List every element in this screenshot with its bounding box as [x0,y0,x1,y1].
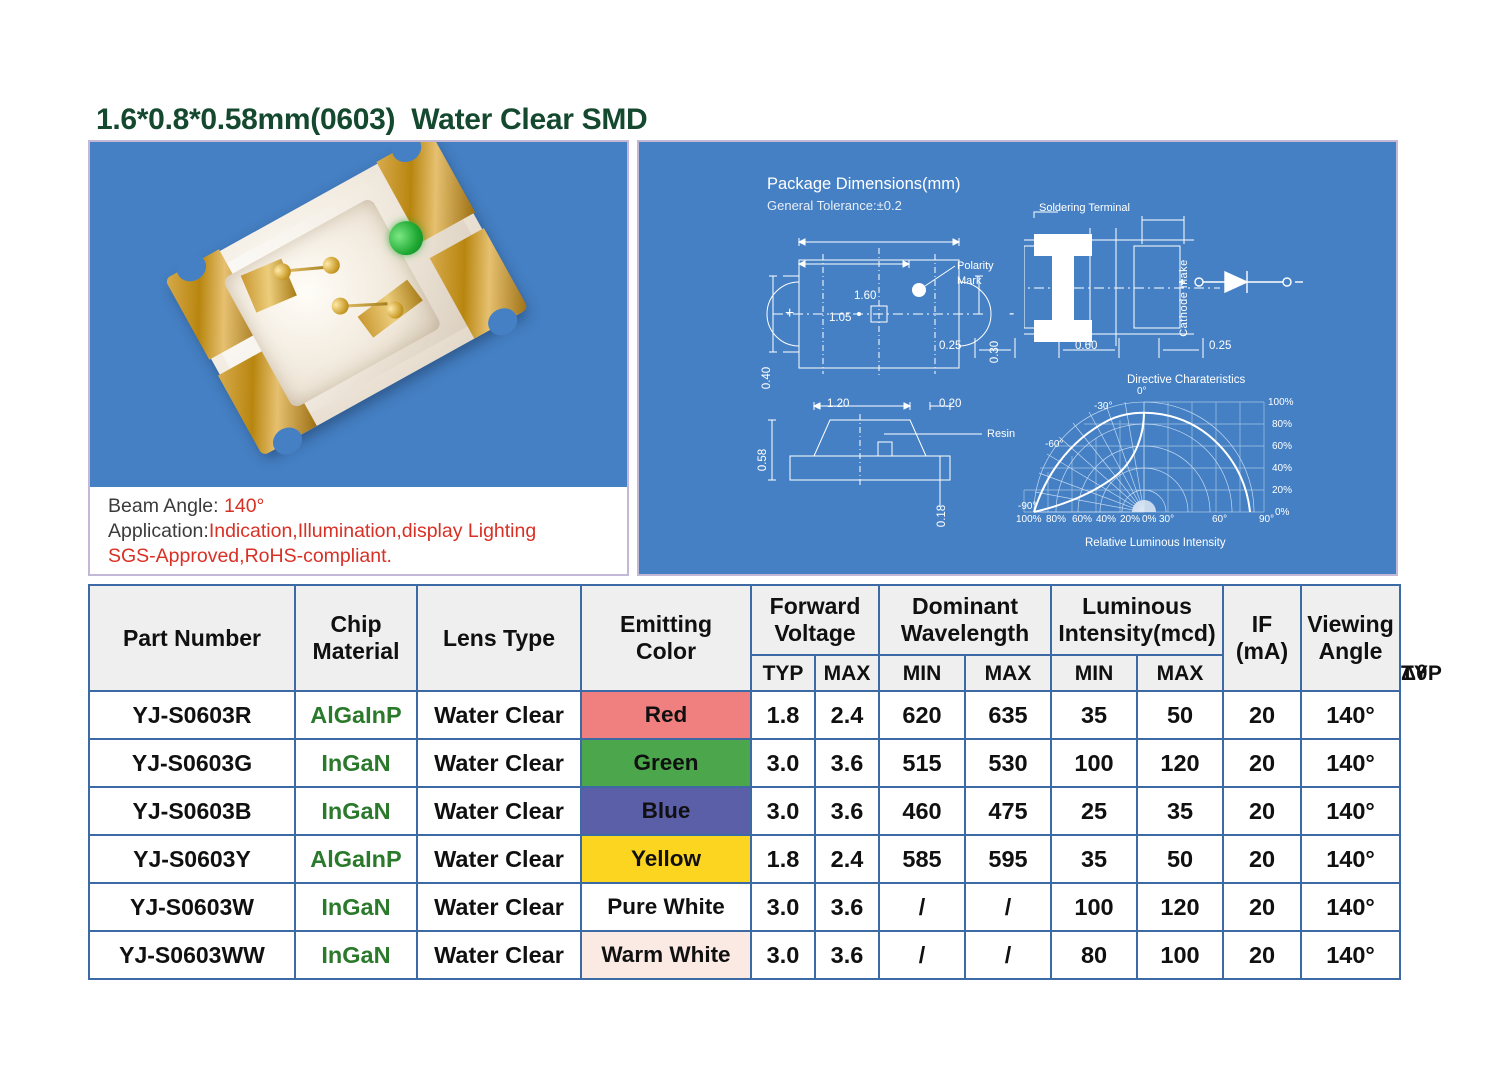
cell-iv-min: 80 [1051,931,1137,979]
cell-iv-max: 120 [1137,883,1223,931]
polar-percent-bottom-20: 20% [1120,514,1140,525]
cell-if-typ: 20 [1223,739,1301,787]
subheader-iv-min: MIN [1051,655,1137,691]
polarity-mark-label-line2: Mark [957,275,981,287]
cell-part-number: YJ-S0603B [89,787,295,835]
cell-emitting-color: Blue [581,787,751,835]
cell-iv-min: 100 [1051,739,1137,787]
side-view-drawing [754,394,1019,534]
table-row: YJ-S0603BInGaNWater ClearBlue3.03.646047… [89,787,1400,835]
cell-wl-max: / [965,931,1051,979]
polar-percent-bottom-100: 100% [1016,514,1042,525]
product-photo-panel: Beam Angle: 140° Application:Indication,… [88,140,629,576]
cell-vf-max: 2.4 [815,691,879,739]
header-forward-voltage: Forward Voltage [751,585,879,655]
header-luminous-intensity: Luminous Intensity(mcd) [1051,585,1223,655]
header-dominant-wavelength-line1: Dominant [880,593,1050,620]
cell-chip-material: AlGaInP [295,835,417,883]
polar-percent-right-60: 60% [1272,441,1292,452]
cell-viewing-angle: 140° [1301,691,1400,739]
cell-viewing-angle: 140° [1301,883,1400,931]
cell-vf-max: 3.6 [815,787,879,835]
table-row: YJ-S0603YAlGaInPWater ClearYellow1.82.45… [89,835,1400,883]
header-forward-voltage-line1: Forward [752,593,878,620]
cell-part-number: YJ-S0603G [89,739,295,787]
cell-lens-type: Water Clear [417,883,581,931]
datasheet-page: 1.6*0.8*0.58mm(0603) Water Clear SMD [0,0,1500,1080]
polar-angle-90: 90° [1259,514,1274,525]
cell-chip-material: InGaN [295,931,417,979]
header-viewing-angle-line1: Viewing [1302,611,1399,638]
polar-percent-bottom-40: 40% [1096,514,1116,525]
application-line: Application:Indication,Illumination,disp… [108,519,627,544]
header-viewing-angle: Viewing Angle [1301,585,1400,691]
dim-0-58: 0.58 [757,449,769,471]
cell-wl-max: 595 [965,835,1051,883]
table-row: YJ-S0603GInGaNWater ClearGreen3.03.65155… [89,739,1400,787]
header-if: IF (mA) [1223,585,1301,691]
resin-label: Resin [987,428,1015,440]
polar-angle-minus30: -30° [1094,401,1112,412]
cell-emitting-color: Green [581,739,751,787]
header-if-line1: IF [1224,611,1300,638]
polar-percent-right-100: 100% [1268,397,1294,408]
subheader-iv-max: MAX [1137,655,1223,691]
cell-vf-typ: 1.8 [751,835,815,883]
beam-angle-label: Beam Angle: [108,495,224,517]
soldering-terminal-label: Soldering Terminal [1039,202,1130,214]
cell-wl-min: 460 [879,787,965,835]
header-emitting-color: Emitting Color [581,585,751,691]
cell-viewing-angle: 140° [1301,835,1400,883]
cell-if-typ: 20 [1223,835,1301,883]
cell-wl-min: 515 [879,739,965,787]
dim-1-20: 1.20 [827,398,849,410]
cell-iv-min: 35 [1051,835,1137,883]
cell-vf-max: 3.6 [815,931,879,979]
cell-emitting-color: Warm White [581,931,751,979]
cell-iv-max: 120 [1137,739,1223,787]
cell-iv-max: 35 [1137,787,1223,835]
cell-if-typ: 20 [1223,931,1301,979]
cell-wl-min: 585 [879,835,965,883]
smd-led-photograph [167,142,548,487]
cell-iv-max: 50 [1137,691,1223,739]
cell-vf-max: 2.4 [815,835,879,883]
compliance-line: SGS-Approved,RoHS-compliant. [108,544,627,569]
cell-vf-typ: 3.0 [751,787,815,835]
table-row: YJ-S0603RAlGaInPWater ClearRed1.82.46206… [89,691,1400,739]
header-dominant-wavelength: Dominant Wavelength [879,585,1051,655]
cell-iv-min: 35 [1051,691,1137,739]
cell-emitting-color: Pure White [581,883,751,931]
table-body: YJ-S0603RAlGaInPWater ClearRed1.82.46206… [89,691,1400,979]
cell-lens-type: Water Clear [417,931,581,979]
cell-iv-max: 100 [1137,931,1223,979]
cell-viewing-angle: 140° [1301,931,1400,979]
cell-chip-material: InGaN [295,739,417,787]
polar-percent-right-80: 80% [1272,419,1292,430]
cell-vf-typ: 3.0 [751,931,815,979]
application-value: Indication,Illumination,display Lighting [209,520,536,542]
top-view-drawing [759,220,1024,400]
dim-0-40: 0.40 [761,367,773,389]
cell-wl-max: 475 [965,787,1051,835]
diode-schematic-symbol [1177,262,1317,302]
table-row: YJ-S0603WWInGaNWater ClearWarm White3.03… [89,931,1400,979]
dim-1-60: 1.60 [854,290,876,302]
cell-chip-material: InGaN [295,883,417,931]
polar-angle-minus60: -60° [1045,439,1063,450]
polar-chart-xlabel: Relative Luminous Intensity [1085,537,1226,549]
cell-viewing-angle: 140° [1301,787,1400,835]
dim-0-20: 0.20 [939,398,961,410]
header-viewing-angle-line2: Angle [1302,638,1399,665]
cell-wl-min: 620 [879,691,965,739]
cell-vf-max: 3.6 [815,739,879,787]
drawing-title: Package Dimensions(mm) [767,175,960,194]
cell-emitting-color: Red [581,691,751,739]
drawing-subtitle: General Tolerance:±0.2 [767,198,902,213]
cell-wl-max: / [965,883,1051,931]
header-if-line2: (mA) [1224,638,1300,665]
polar-angle-30: 30° [1159,514,1174,525]
header-forward-voltage-line2: Voltage [752,620,878,647]
specification-table: Part Number Chip Material Lens Type Emit… [88,584,1401,980]
table-header-row-1: Part Number Chip Material Lens Type Emit… [89,585,1400,655]
cell-viewing-angle: 140° [1301,739,1400,787]
header-chip-material-line1: Chip [296,611,416,638]
cell-chip-material: InGaN [295,787,417,835]
dim-0-18: 0.18 [936,505,948,527]
cell-part-number: YJ-S0603W [89,883,295,931]
cell-part-number: YJ-S0603WW [89,931,295,979]
cathode-minus-symbol: - [1009,305,1014,323]
polar-percent-right-20: 20% [1272,485,1292,496]
polar-percent-right-40: 40% [1272,463,1292,474]
subheader-vf-max: MAX [815,655,879,691]
cell-part-number: YJ-S0603Y [89,835,295,883]
cell-vf-max: 3.6 [815,883,879,931]
cell-vf-typ: 3.0 [751,739,815,787]
beam-angle-line: Beam Angle: 140° [108,494,627,519]
polar-percent-bottom-0: 0% [1142,514,1156,525]
cell-iv-max: 50 [1137,835,1223,883]
cell-if-typ: 20 [1223,691,1301,739]
header-part-number: Part Number [89,585,295,691]
cell-lens-type: Water Clear [417,691,581,739]
header-dominant-wavelength-line2: Wavelength [880,620,1050,647]
cell-wl-max: 530 [965,739,1051,787]
beam-angle-value: 140° [224,495,264,517]
header-chip-material-line2: Material [296,638,416,665]
cell-iv-min: 25 [1051,787,1137,835]
photo-caption-block: Beam Angle: 140° Application:Indication,… [90,487,627,576]
cell-iv-min: 100 [1051,883,1137,931]
header-chip-material: Chip Material [295,585,417,691]
subheader-wl-min: MIN [879,655,965,691]
header-emitting-color-line1: Emitting [582,611,750,638]
header-emitting-color-line2: Color [582,638,750,665]
polar-percent-right-0: 0% [1275,507,1289,518]
cell-lens-type: Water Clear [417,835,581,883]
directive-characteristics-chart [1014,394,1284,534]
led-photo-area [90,142,627,487]
cell-if-typ: 20 [1223,883,1301,931]
subheader-vf-typ: TYP [751,655,815,691]
header-lens-type: Lens Type [417,585,581,691]
cell-if-typ: 20 [1223,787,1301,835]
polar-chart-title: Directive Charateristics [1127,374,1245,386]
cell-emitting-color: Yellow [581,835,751,883]
anode-plus-symbol: + [785,305,794,323]
cell-lens-type: Water Clear [417,787,581,835]
application-label: Application: [108,520,209,542]
cell-wl-min: / [879,931,965,979]
subheader-wl-max: MAX [965,655,1051,691]
cell-vf-typ: 3.0 [751,883,815,931]
cell-chip-material: AlGaInP [295,691,417,739]
header-luminous-intensity-line1: Luminous [1052,593,1222,620]
dim-bottom-left-0-25: 0.25 [939,340,961,352]
cell-lens-type: Water Clear [417,739,581,787]
cell-wl-max: 635 [965,691,1051,739]
cell-wl-min: / [879,883,965,931]
cell-part-number: YJ-S0603R [89,691,295,739]
polar-percent-bottom-80: 80% [1046,514,1066,525]
cell-vf-typ: 1.8 [751,691,815,739]
polar-angle-60: 60° [1212,514,1227,525]
polar-percent-bottom-60: 60% [1072,514,1092,525]
polarity-mark-label-line1: Polarity [957,260,994,272]
page-title: 1.6*0.8*0.58mm(0603) Water Clear SMD [96,103,647,137]
polar-angle-minus90: -90° [1018,501,1036,512]
dim-1-05: 1.05 [829,312,851,324]
polar-angle-0: 0° [1137,386,1147,397]
package-drawing-panel: Package Dimensions(mm) General Tolerance… [637,140,1398,576]
table-row: YJ-S0603WInGaNWater ClearPure White3.03.… [89,883,1400,931]
header-luminous-intensity-line2: Intensity(mcd) [1052,620,1222,647]
